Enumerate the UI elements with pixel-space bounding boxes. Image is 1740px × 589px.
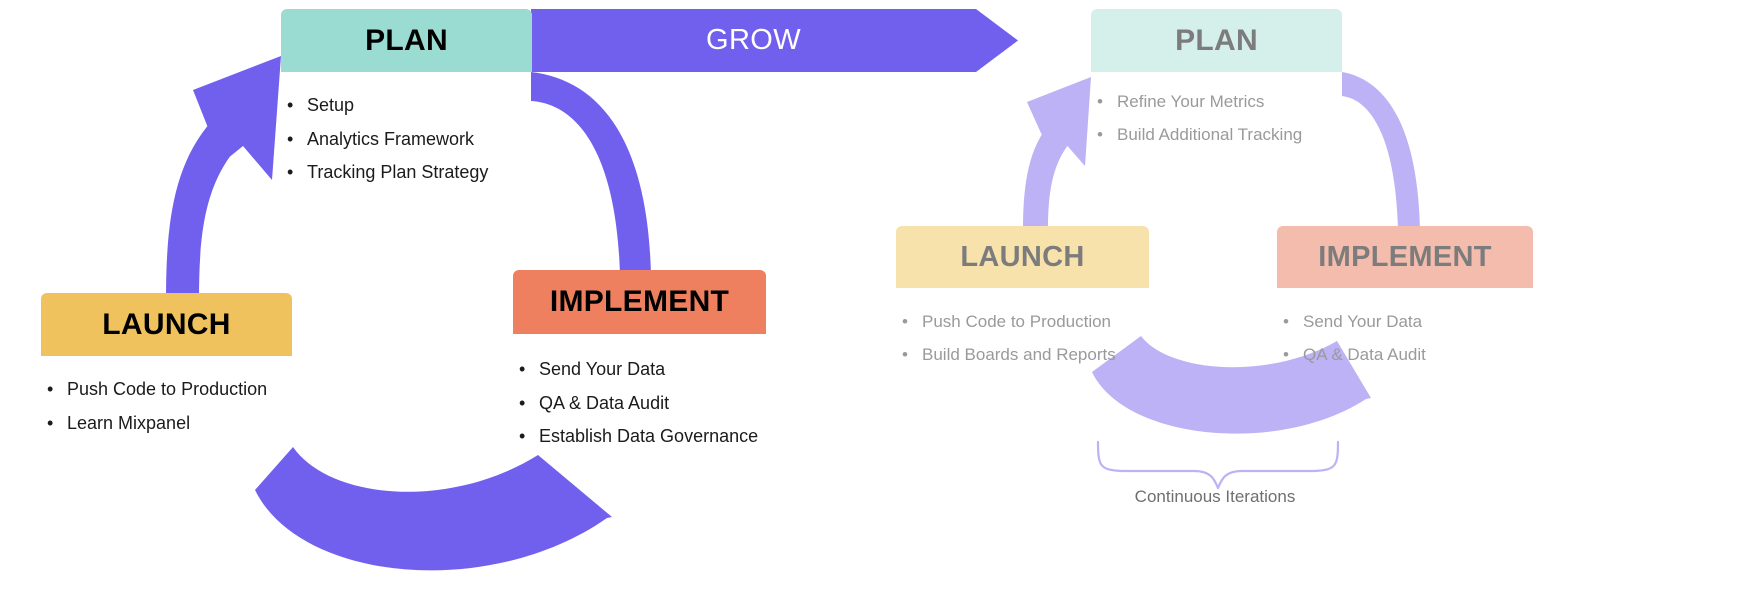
bullet-text: Push Code to Production — [67, 379, 267, 399]
bullet-text: Refine Your Metrics — [1117, 92, 1264, 111]
list-item: •Send Your Data — [513, 353, 766, 387]
bullet-text: Analytics Framework — [307, 129, 474, 149]
diagram-canvas: GROW PLAN •Setup •Analytics Framework •T… — [0, 0, 1740, 589]
launch-faded-title: LAUNCH — [896, 226, 1149, 288]
list-item: •Establish Data Governance — [513, 420, 766, 454]
list-item: •Refine Your Metrics — [1091, 85, 1342, 118]
list-item: •Build Additional Tracking — [1091, 118, 1342, 151]
bullet-text: Build Additional Tracking — [1117, 125, 1302, 144]
node-plan-faded[interactable]: PLAN •Refine Your Metrics •Build Additio… — [1091, 9, 1342, 151]
bullet-text: Setup — [307, 95, 354, 115]
bullet-icon: • — [519, 420, 525, 454]
plan-faded-bullets: •Refine Your Metrics •Build Additional T… — [1091, 85, 1342, 151]
list-item: •Analytics Framework — [281, 123, 532, 157]
bullet-text: QA & Data Audit — [1303, 345, 1426, 364]
node-launch-active[interactable]: LAUNCH •Push Code to Production •Learn M… — [41, 293, 292, 440]
bullet-text: QA & Data Audit — [539, 393, 669, 413]
arrow-launch-to-plan-faded — [1023, 77, 1091, 232]
implement-faded-title: IMPLEMENT — [1277, 226, 1533, 288]
bullet-icon: • — [287, 89, 293, 123]
continuous-iterations-label: Continuous Iterations — [1090, 487, 1340, 507]
bullet-icon: • — [519, 387, 525, 421]
implement-active-bullets: •Send Your Data •QA & Data Audit •Establ… — [513, 353, 766, 454]
plan-active-title: PLAN — [281, 9, 532, 72]
list-item: •Setup — [281, 89, 532, 123]
bullet-text: Learn Mixpanel — [67, 413, 190, 433]
implement-faded-bullets: •Send Your Data •QA & Data Audit — [1277, 305, 1533, 371]
grow-banner: GROW — [531, 9, 1018, 72]
arrow-plan-to-implement-faded — [1342, 72, 1420, 231]
list-item: •Tracking Plan Strategy — [281, 156, 532, 190]
list-item: •QA & Data Audit — [513, 387, 766, 421]
bullet-text: Send Your Data — [539, 359, 665, 379]
bullet-icon: • — [1283, 338, 1289, 371]
bullet-icon: • — [1097, 118, 1103, 151]
bullet-text: Establish Data Governance — [539, 426, 758, 446]
bullet-icon: • — [902, 338, 908, 371]
bullet-text: Send Your Data — [1303, 312, 1422, 331]
grow-label: GROW — [531, 9, 976, 72]
bullet-icon: • — [287, 156, 293, 190]
node-plan-active[interactable]: PLAN •Setup •Analytics Framework •Tracki… — [281, 9, 532, 190]
bullet-icon: • — [47, 407, 53, 441]
implement-active-title: IMPLEMENT — [513, 270, 766, 334]
bullet-icon: • — [1097, 85, 1103, 118]
bullet-icon: • — [519, 353, 525, 387]
bullet-icon: • — [47, 373, 53, 407]
bullet-icon: • — [1283, 305, 1289, 338]
launch-faded-bullets: •Push Code to Production •Build Boards a… — [896, 305, 1149, 371]
arrow-plan-to-implement — [531, 72, 651, 276]
list-item: •Push Code to Production — [896, 305, 1149, 338]
arrow-implement-to-launch — [255, 447, 612, 570]
launch-active-bullets: •Push Code to Production •Learn Mixpanel — [41, 373, 292, 440]
list-item: •Push Code to Production — [41, 373, 292, 407]
bullet-text: Push Code to Production — [922, 312, 1111, 331]
list-item: •Build Boards and Reports — [896, 338, 1149, 371]
continuous-iterations-brace — [1098, 442, 1338, 488]
list-item: •Learn Mixpanel — [41, 407, 292, 441]
list-item: •Send Your Data — [1277, 305, 1533, 338]
bullet-text: Build Boards and Reports — [922, 345, 1116, 364]
node-implement-faded[interactable]: IMPLEMENT •Send Your Data •QA & Data Aud… — [1277, 226, 1533, 371]
plan-active-bullets: •Setup •Analytics Framework •Tracking Pl… — [281, 89, 532, 190]
bullet-icon: • — [902, 305, 908, 338]
node-implement-active[interactable]: IMPLEMENT •Send Your Data •QA & Data Aud… — [513, 270, 766, 454]
node-launch-faded[interactable]: LAUNCH •Push Code to Production •Build B… — [896, 226, 1149, 371]
list-item: •QA & Data Audit — [1277, 338, 1533, 371]
launch-active-title: LAUNCH — [41, 293, 292, 356]
bullet-icon: • — [287, 123, 293, 157]
bullet-text: Tracking Plan Strategy — [307, 162, 488, 182]
plan-faded-title: PLAN — [1091, 9, 1342, 72]
arrow-launch-to-plan — [166, 56, 281, 300]
